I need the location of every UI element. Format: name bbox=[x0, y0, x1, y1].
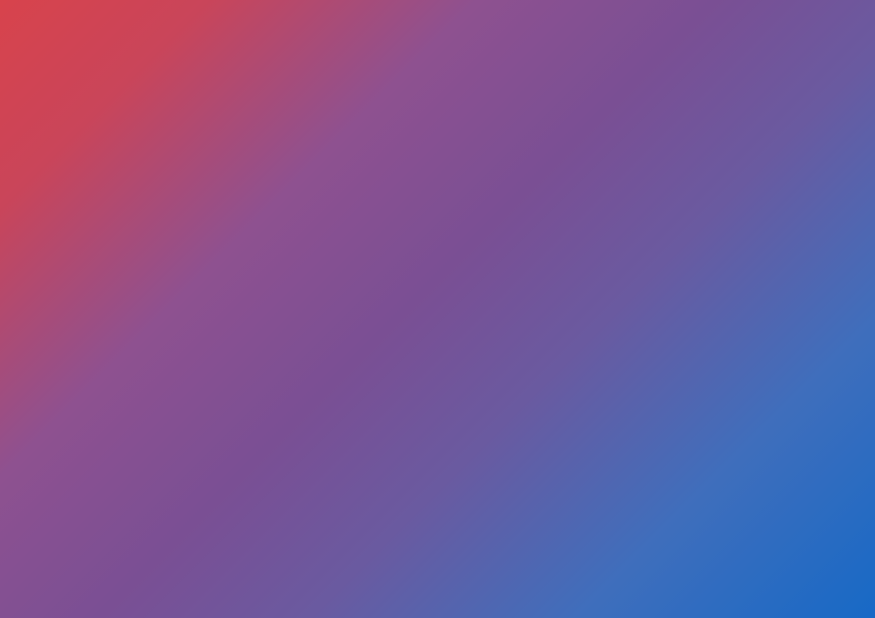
brand-tagline: Discover Possibilities bbox=[733, 109, 831, 115]
page-title-rest: Without Purpose bbox=[163, 63, 406, 96]
brand-name: Hidden Brains bbox=[733, 96, 831, 108]
illustration-card: GROWTH BROWON GROWTH bbox=[61, 159, 820, 561]
hidden-brains-logo-icon bbox=[758, 50, 806, 94]
slide-header: Drifting Without Purpose bbox=[2, 2, 873, 152]
page-title: Drifting Without Purpose bbox=[59, 62, 407, 98]
rocket-wall-illustration: GROWTH BROWON GROWTH bbox=[61, 159, 820, 561]
brand-logo: Hidden Brains Discover Possibilities bbox=[733, 50, 831, 115]
page-content-area: Drifting Without Purpose bbox=[2, 2, 873, 616]
page-title-accent: Drifting bbox=[59, 63, 163, 96]
slide-page: Drifting Without Purpose bbox=[0, 0, 875, 618]
